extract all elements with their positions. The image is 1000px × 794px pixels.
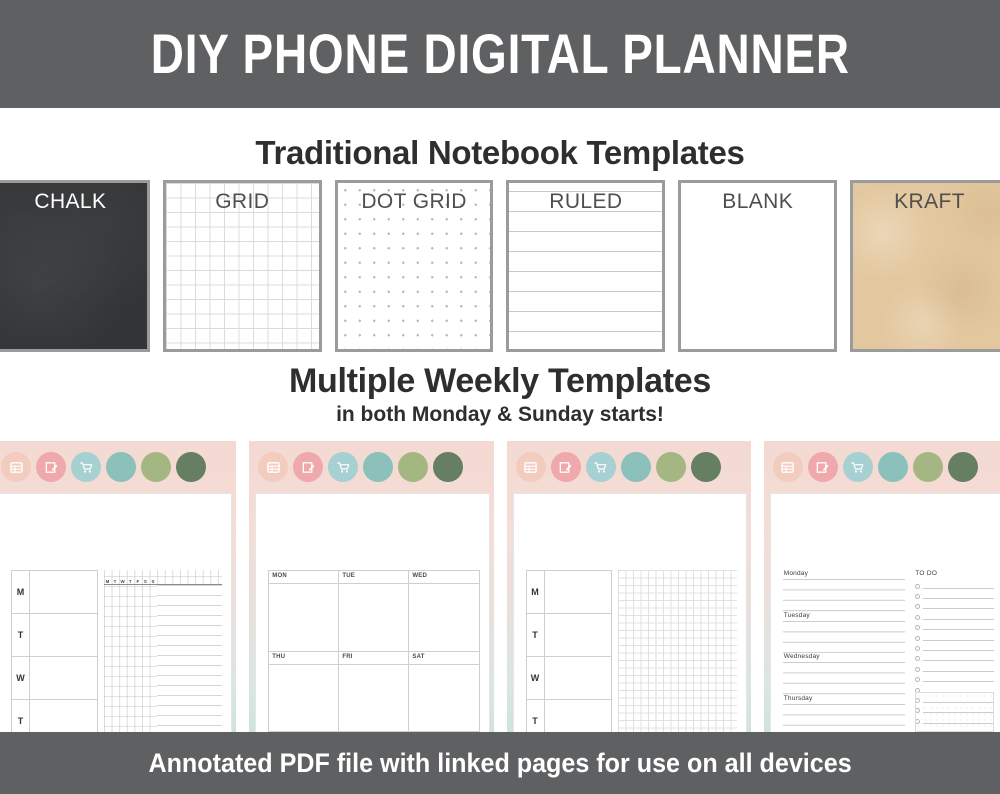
day-cell[interactable] [30,614,97,656]
cart-icon[interactable] [328,452,358,482]
todo-list [915,581,994,688]
day-box[interactable]: FRI [339,652,409,733]
planner-page: MON TUE WED THU FRI SAT [255,493,489,732]
notebook-section-heading: Traditional Notebook Templates [0,134,1000,172]
day-label: THU [272,654,285,660]
todo-item[interactable] [915,675,994,685]
circle-teal-icon[interactable] [878,452,908,482]
planner-preview-weekly-six-box[interactable]: MON TUE WED THU FRI SAT [249,441,493,732]
todo-item[interactable] [915,612,994,622]
day-label: WED [412,573,427,579]
todo-checkbox[interactable] [915,636,920,641]
day-row: T [12,700,98,732]
day-column: M T W T F [11,570,98,732]
todo-title: TO DO [915,570,994,577]
tracker-day: F [134,580,142,584]
todo-line[interactable] [923,636,994,641]
grid-paper-notes[interactable] [618,570,737,732]
day-lines[interactable] [783,662,906,695]
day-lines[interactable] [783,579,906,612]
day-column: M T W T F [526,570,613,732]
day-row: W [12,657,98,700]
day-cell[interactable] [30,700,97,732]
day-block: Monday [783,570,906,612]
day-row: T [527,614,613,657]
edit-icon[interactable] [36,452,66,482]
todo-item[interactable] [915,633,994,643]
day-cell[interactable] [545,614,612,656]
tracker-notes-lines[interactable] [157,585,222,732]
edit-icon[interactable] [293,452,323,482]
planner-page: Monday Tuesday Wednesday Thursday Friday… [770,493,1000,732]
todo-checkbox[interactable] [915,625,920,630]
day-cell[interactable] [545,571,612,613]
notebook-card-blank[interactable]: BLANK [678,180,837,352]
todo-line[interactable] [923,677,994,682]
circle-forest-icon[interactable] [433,452,463,482]
circle-sage-icon[interactable] [656,452,686,482]
cart-icon[interactable] [71,452,101,482]
day-label: M [12,571,30,613]
weekly-section-subheading: in both Monday & Sunday starts! [0,403,1000,427]
day-cell[interactable] [545,700,612,732]
tracker-day: M [104,580,112,584]
todo-item[interactable] [915,643,994,653]
notebook-card-label: KRAFT [853,190,1000,214]
todo-item[interactable] [915,591,994,601]
tracker-day: T [126,580,134,584]
list-icon[interactable] [773,452,803,482]
weekly-planner-row: M T W T F M T W T F [0,441,1000,732]
day-box[interactable]: THU [269,652,339,733]
day-label: M [527,571,545,613]
day-label: W [12,657,30,699]
lined-day-list: Monday Tuesday Wednesday Thursday Friday [783,570,906,732]
day-row: T [12,614,98,657]
header-banner: DIY PHONE DIGITAL PLANNER [0,0,1000,108]
day-label: Monday [784,570,808,577]
weekly-section-heading: Multiple Weekly Templates [0,362,1000,401]
todo-line[interactable] [923,615,994,620]
day-label: W [527,657,545,699]
day-label: MON [272,573,287,579]
circle-sage-icon[interactable] [913,452,943,482]
planner-content: M T W T F M T W T F [11,570,222,732]
todo-checkbox[interactable] [915,656,920,661]
day-label: TUE [342,573,355,579]
notebook-card-kraft[interactable]: KRAFT [850,180,1000,352]
day-box[interactable]: TUE [339,571,409,652]
day-row: M [527,571,613,614]
habit-tracker: M T W T F S S [104,570,223,732]
list-icon[interactable] [516,452,546,482]
circle-teal-icon[interactable] [363,452,393,482]
notebook-card-label: CHALK [0,190,147,214]
day-label: Wednesday [784,653,820,660]
edit-icon[interactable] [808,452,838,482]
todo-checkbox[interactable] [915,594,920,599]
day-label: Thursday [784,695,813,702]
planner-icon-row [507,441,751,493]
circle-forest-icon[interactable] [691,452,721,482]
notebook-card-label: GRID [166,190,319,214]
planner-icon-row [0,441,236,493]
day-row: W [527,657,613,700]
notebook-card-chalk[interactable]: CHALK [0,180,150,352]
day-block: Tuesday [783,612,906,654]
tracker-day: S [142,580,150,584]
day-box[interactable]: WED [409,571,479,652]
circle-sage-icon[interactable] [141,452,171,482]
notebook-card-label: BLANK [681,190,834,214]
tracker-day: T [111,580,119,584]
tracker-day: S [149,580,157,584]
footer-banner: Annotated PDF file with linked pages for… [0,732,1000,794]
day-cell[interactable] [30,571,97,613]
habit-tracker-header: M T W T F S S [104,570,223,585]
circle-forest-icon[interactable] [948,452,978,482]
todo-checkbox[interactable] [915,677,920,682]
planner-preview-weekly-lined-todo[interactable]: Monday Tuesday Wednesday Thursday Friday… [764,441,1000,732]
todo-checkbox[interactable] [915,667,920,672]
cart-icon[interactable] [843,452,873,482]
planner-preview-weekly-grid-notes[interactable]: M T W T F [507,441,751,732]
planner-content: Monday Tuesday Wednesday Thursday Friday… [783,570,994,732]
notebook-card-grid[interactable]: GRID [163,180,322,352]
todo-item[interactable] [915,664,994,674]
planner-icon-row [764,441,1000,493]
notebook-card-label: DOT GRID [338,190,491,214]
notebook-card-ruled[interactable]: RULED [506,180,665,352]
notebook-template-strip: CHALK GRID DOT GRID RULED BLANK KRAFT [0,180,1000,352]
day-lines[interactable] [783,704,906,733]
edit-icon[interactable] [551,452,581,482]
todo-item[interactable] [915,654,994,664]
todo-item[interactable] [915,623,994,633]
todo-line[interactable] [923,625,994,630]
todo-line[interactable] [923,667,994,672]
day-row: M [12,571,98,614]
todo-line[interactable] [923,594,994,599]
todo-item[interactable] [915,581,994,591]
planner-content: MON TUE WED THU FRI SAT [268,570,479,732]
day-block: Wednesday [783,653,906,695]
notebook-card-dot-grid[interactable]: DOT GRID [335,180,494,352]
day-cell[interactable] [545,657,612,699]
day-box[interactable]: SAT [409,652,479,733]
planner-preview-weekly-habit-tracker[interactable]: M T W T F M T W T F [0,441,236,732]
todo-line[interactable] [923,656,994,661]
day-box[interactable]: MON [269,571,339,652]
circle-teal-icon[interactable] [106,452,136,482]
day-lines[interactable] [783,621,906,654]
cart-icon[interactable] [586,452,616,482]
todo-line[interactable] [923,584,994,589]
day-label: SAT [412,654,424,660]
day-label: T [12,700,30,732]
day-row: T [527,700,613,732]
six-box-grid: MON TUE WED THU FRI SAT [268,570,479,732]
todo-panel: TO DO [915,570,994,732]
day-block: Thursday [783,695,906,733]
planner-listing-image: DIY PHONE DIGITAL PLANNER Traditional No… [0,0,1000,794]
todo-checkbox[interactable] [915,604,920,609]
planner-page: M T W T F M T W T F [0,493,232,732]
planner-content: M T W T F [526,570,737,732]
todo-line[interactable] [923,646,994,651]
circle-sage-icon[interactable] [398,452,428,482]
circle-teal-icon[interactable] [621,452,651,482]
list-icon[interactable] [258,452,288,482]
planner-icon-row [249,441,493,493]
day-cell[interactable] [30,657,97,699]
tracker-day: W [119,580,127,584]
notebook-card-label: RULED [509,190,662,214]
todo-checkbox[interactable] [915,646,920,651]
list-icon[interactable] [1,452,31,482]
todo-item[interactable] [915,602,994,612]
footer-text: Annotated PDF file with linked pages for… [148,748,851,779]
weekly-section-headings: Multiple Weekly Templates in both Monday… [0,362,1000,427]
todo-checkbox[interactable] [915,584,920,589]
todo-checkbox[interactable] [915,615,920,620]
planner-page: M T W T F [513,493,747,732]
day-label: T [527,700,545,732]
circle-forest-icon[interactable] [176,452,206,482]
page-title: DIY PHONE DIGITAL PLANNER [150,26,849,82]
todo-line[interactable] [923,604,994,609]
day-label: Tuesday [784,612,810,619]
day-label: FRI [342,654,352,660]
day-label: T [12,614,30,656]
day-label: T [527,614,545,656]
notes-box[interactable] [915,692,994,732]
